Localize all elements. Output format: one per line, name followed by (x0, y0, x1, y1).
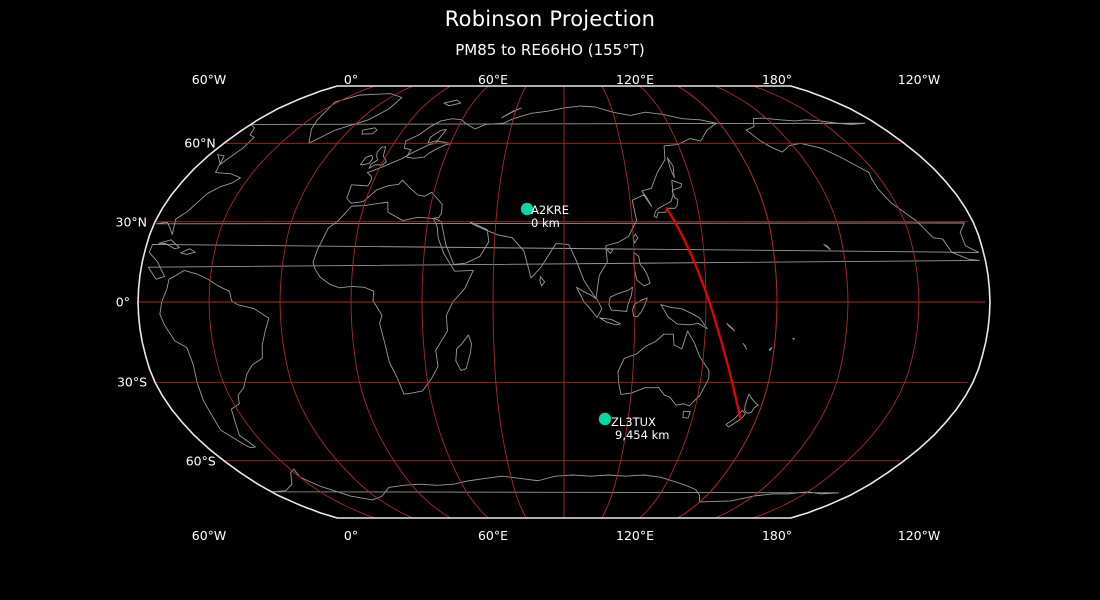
station-markers[interactable] (521, 203, 611, 425)
station-distance: 0 km (531, 217, 569, 230)
lon-tick-label: 180° (762, 528, 792, 543)
lon-tick-label: 120°W (898, 528, 940, 543)
graticule-layer (138, 86, 985, 518)
lon-tick-label: 120°E (616, 72, 654, 87)
station-label-a2kre: A2KRE0 km (531, 204, 569, 229)
lat-tick-label: 30°S (117, 375, 147, 390)
station-label-zl3tux: ZL3TUX9,454 km (611, 416, 669, 441)
lon-tick-label: 120°W (898, 72, 940, 87)
lon-tick-label: 60°W (192, 72, 227, 87)
robinson-map-canvas (0, 0, 1100, 600)
lon-tick-label: 0° (344, 528, 358, 543)
lon-tick-label: 60°E (478, 72, 508, 87)
lat-tick-label: 60°S (186, 453, 216, 468)
station-callsign: A2KRE (531, 204, 569, 217)
lon-tick-label: 180° (762, 72, 792, 87)
lon-tick-label: 0° (344, 72, 358, 87)
lon-tick-label: 60°E (478, 528, 508, 543)
lat-tick-label: 0° (116, 295, 130, 310)
station-distance: 9,454 km (615, 429, 669, 442)
lat-tick-label: 30°N (116, 214, 148, 229)
great-circle-path[interactable] (667, 208, 741, 418)
station-marker-zl3tux[interactable] (599, 413, 611, 425)
lon-tick-label: 60°W (192, 528, 227, 543)
map-figure: Robinson Projection PM85 to RE66HO (155°… (0, 0, 1100, 600)
lon-tick-label: 120°E (616, 528, 654, 543)
lat-tick-label: 60°N (184, 136, 216, 151)
station-callsign: ZL3TUX (611, 416, 669, 429)
